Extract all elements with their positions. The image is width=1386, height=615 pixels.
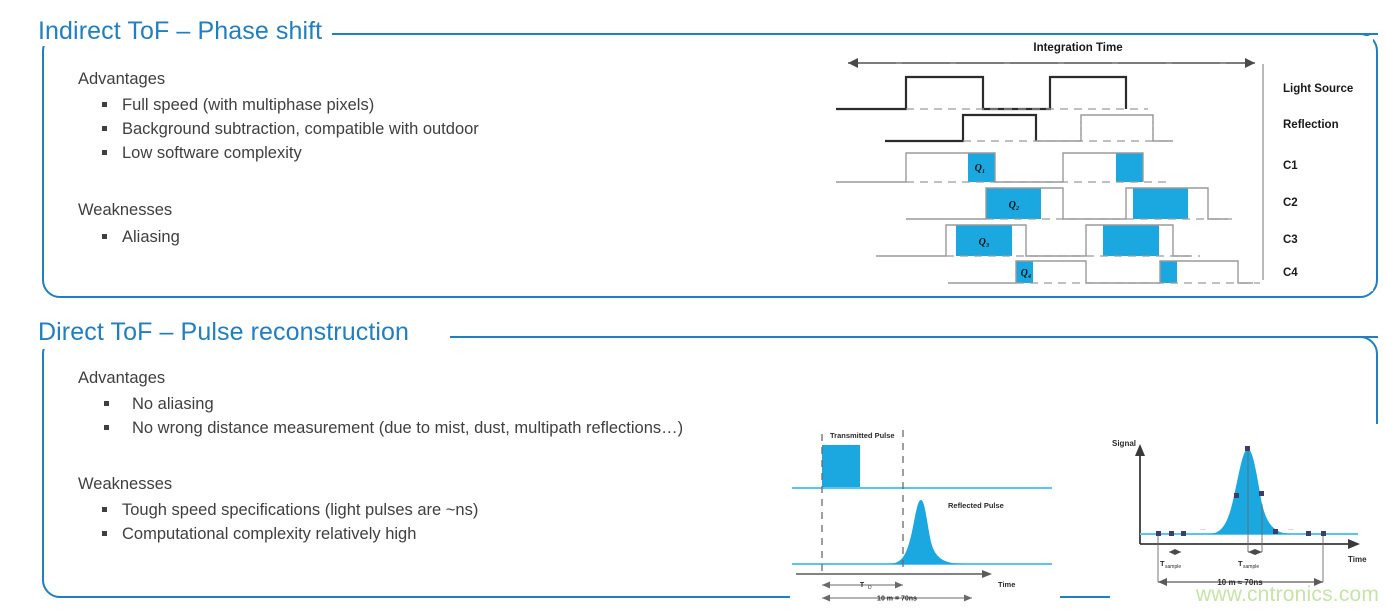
phase-shift-timing-diagram: Integration Time Light Source (828, 36, 1373, 291)
section-2-advantages-list: No aliasing No wrong distance measuremen… (100, 392, 683, 440)
bullet-square-icon (102, 234, 107, 239)
list-item-label: No aliasing (132, 395, 214, 413)
section-1-title: Indirect ToF – Phase shift (32, 16, 332, 46)
pulse-sampling-diagram: Signal Time ... (1110, 424, 1380, 604)
bullet-square-icon (104, 425, 109, 430)
svg-text:C4: C4 (1283, 267, 1298, 279)
svg-text:Reflection: Reflection (1283, 119, 1339, 131)
svg-text:Transmitted Pulse: Transmitted Pulse (830, 431, 895, 440)
svg-text:Time: Time (998, 580, 1015, 589)
svg-text:Q₄: Q₄ (1021, 268, 1032, 279)
list-item-label: No wrong distance measurement (due to mi… (132, 419, 683, 437)
section-2-advantages-heading: Advantages (78, 368, 165, 388)
svg-text:Time: Time (1348, 555, 1367, 564)
bullet-square-icon (102, 531, 107, 536)
svg-text:Signal: Signal (1112, 439, 1136, 448)
bullet-square-icon (104, 401, 109, 406)
transmitted-reflected-pulse-diagram: Time T D 10 m = 70ns Transmitted Pulse R… (790, 424, 1060, 604)
bullet-square-icon (102, 150, 107, 155)
section-1-advantages-list: Full speed (with multiphase pixels) Back… (100, 93, 479, 165)
svg-text:sample: sample (1243, 564, 1259, 570)
svg-text:10 m = 70ns: 10 m = 70ns (877, 596, 917, 603)
list-item: Tough speed specifications (light pulses… (100, 498, 478, 522)
section-2-weaknesses-heading: Weaknesses (78, 474, 172, 494)
list-item: No wrong distance measurement (due to mi… (100, 416, 683, 440)
svg-text:C1: C1 (1283, 160, 1298, 172)
section-1-weaknesses-list: Aliasing (100, 225, 180, 249)
bullet-square-icon (102, 126, 107, 131)
svg-text:C2: C2 (1283, 197, 1298, 209)
list-item-label: Aliasing (122, 228, 180, 246)
list-item: No aliasing (100, 392, 683, 416)
watermark: www.cntronics.com (1196, 583, 1379, 607)
list-item: Aliasing (100, 225, 180, 249)
bullet-square-icon (102, 507, 107, 512)
svg-text:Q₂: Q₂ (1009, 200, 1020, 211)
list-item: Background subtraction, compatible with … (100, 117, 479, 141)
slide-canvas: Indirect ToF – Phase shift Advantages Fu… (0, 0, 1386, 615)
bullet-square-icon (102, 102, 107, 107)
list-item-label: Background subtraction, compatible with … (122, 120, 479, 138)
svg-text:...: ... (1200, 525, 1206, 532)
svg-text:C3: C3 (1283, 234, 1298, 246)
list-item: Full speed (with multiphase pixels) (100, 93, 479, 117)
list-item-label: Computational complexity relatively high (122, 525, 416, 543)
svg-text:Q₁: Q₁ (975, 163, 986, 174)
section-1-weaknesses-heading: Weaknesses (78, 200, 172, 220)
svg-text:Integration Time: Integration Time (1033, 42, 1122, 54)
list-item-label: Low software complexity (122, 144, 302, 162)
section-1-title-rule (345, 33, 1378, 35)
svg-text:Light Source: Light Source (1283, 83, 1353, 95)
list-item-label: Full speed (with multiphase pixels) (122, 96, 374, 114)
svg-text:T: T (860, 582, 865, 589)
section-1-advantages-heading: Advantages (78, 69, 165, 89)
section-2-weaknesses-list: Tough speed specifications (light pulses… (100, 498, 478, 546)
list-item-label: Tough speed specifications (light pulses… (122, 501, 478, 519)
svg-text:sample: sample (1165, 564, 1181, 570)
svg-text:Reflected Pulse: Reflected Pulse (948, 501, 1004, 510)
svg-text:...: ... (1288, 525, 1294, 532)
section-2-title-rule (460, 336, 1378, 338)
svg-text:Q₃: Q₃ (979, 237, 990, 248)
list-item: Low software complexity (100, 141, 479, 165)
list-item: Computational complexity relatively high (100, 522, 478, 546)
section-2-title: Direct ToF – Pulse reconstruction (32, 317, 419, 347)
svg-text:D: D (868, 585, 872, 591)
